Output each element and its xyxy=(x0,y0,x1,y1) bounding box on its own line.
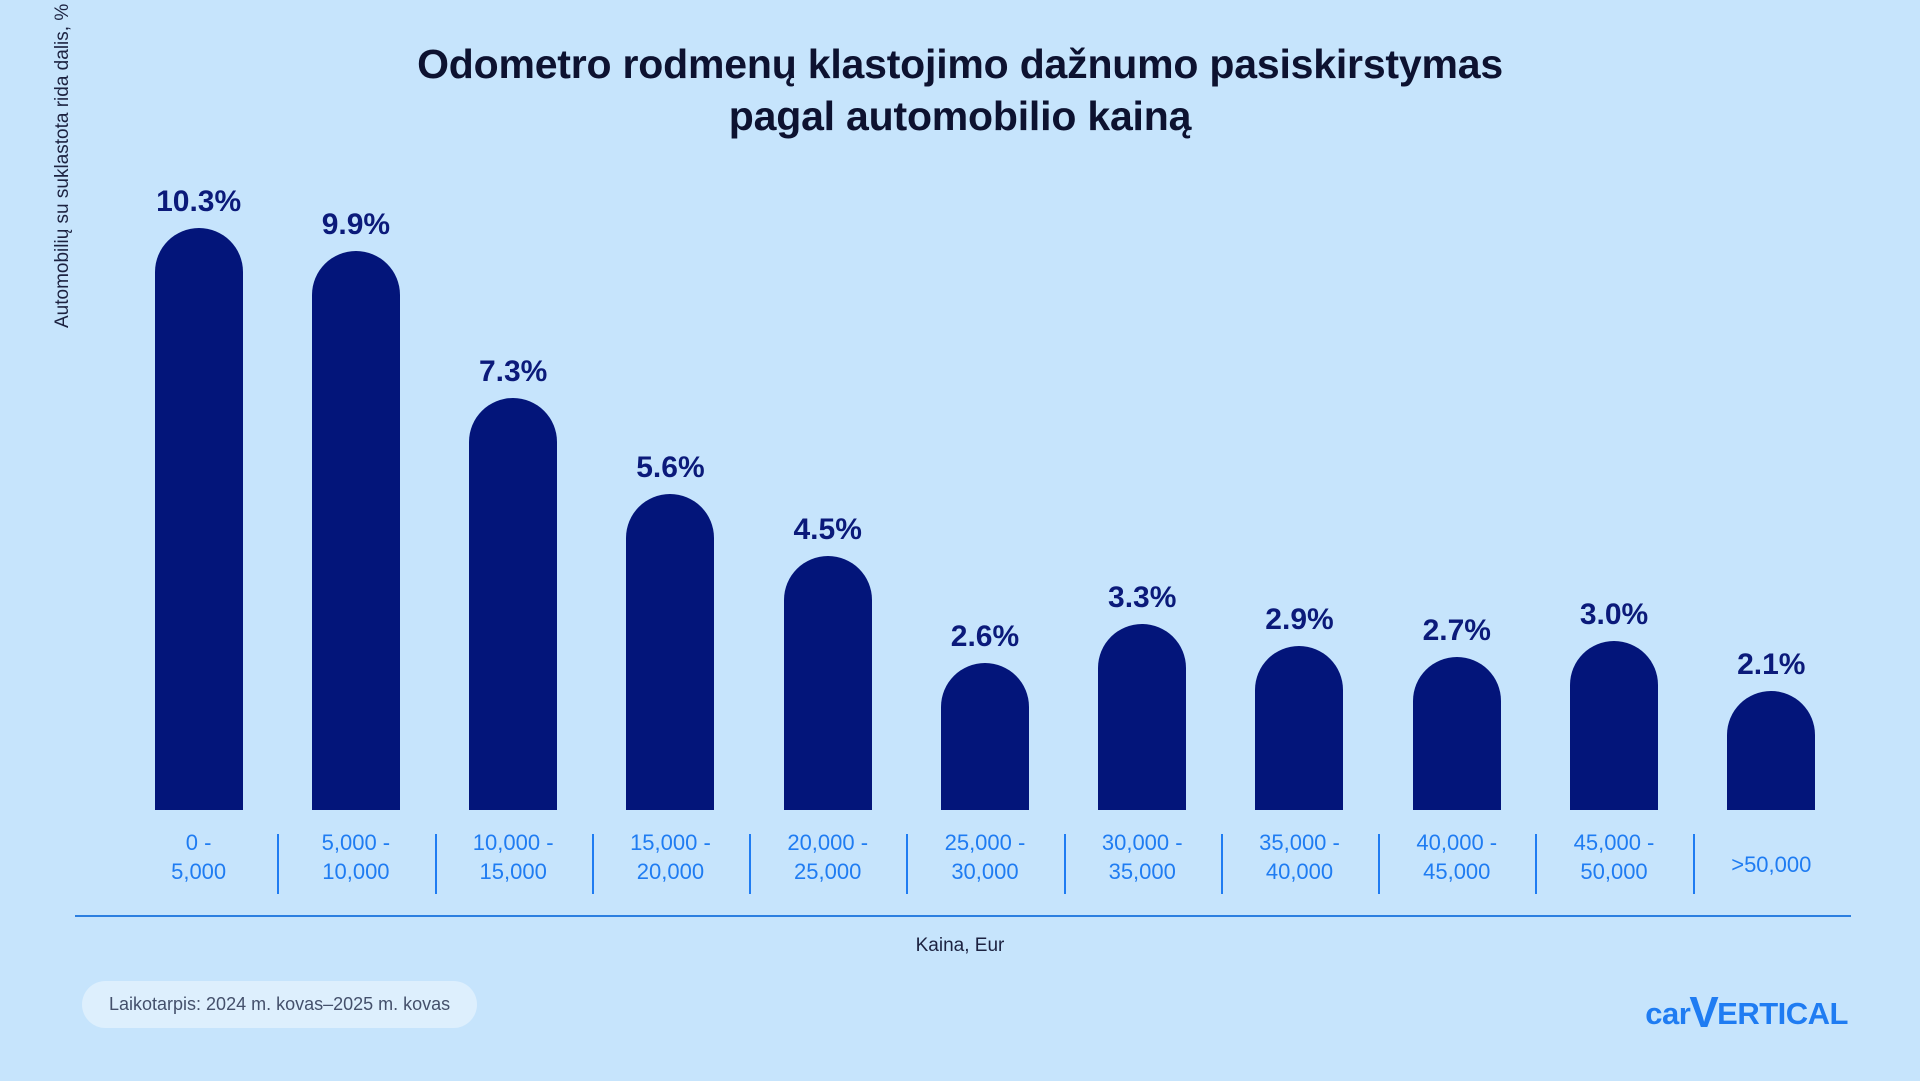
category-label-line: 10,000 xyxy=(322,857,389,886)
category-separator-line xyxy=(1064,834,1066,894)
x-axis-category-label: 10,000 -15,000 xyxy=(435,828,592,906)
category-label-line: 50,000 xyxy=(1580,857,1647,886)
category-separator-line xyxy=(1535,834,1537,894)
x-axis-category-label: 30,000 -35,000 xyxy=(1064,828,1221,906)
logo-text-car: car xyxy=(1645,996,1690,1032)
bar[interactable] xyxy=(626,494,714,810)
bar-slot: 9.9% xyxy=(277,180,434,810)
bar[interactable] xyxy=(1570,641,1658,811)
period-badge: Laikotarpis: 2024 m. kovas–2025 m. kovas xyxy=(82,981,477,1028)
bar-value-label: 2.6% xyxy=(951,620,1019,654)
category-separator-line xyxy=(277,834,279,894)
category-label-line: 35,000 xyxy=(1109,857,1176,886)
x-axis-category-label: 25,000 -30,000 xyxy=(906,828,1063,906)
category-label-line: 15,000 - xyxy=(630,828,711,857)
bar[interactable] xyxy=(1727,691,1815,810)
category-label-line: >50,000 xyxy=(1731,850,1811,879)
category-label-line: 5,000 - xyxy=(322,828,391,857)
category-label-line: 10,000 - xyxy=(473,828,554,857)
x-axis-category-label: 5,000 -10,000 xyxy=(277,828,434,906)
category-label-line: 45,000 xyxy=(1423,857,1490,886)
x-axis-category-label: >50,000 xyxy=(1693,828,1850,906)
bar-value-label: 5.6% xyxy=(636,451,704,485)
category-label-line: 0 - xyxy=(186,828,212,857)
x-axis-category-label: 15,000 -20,000 xyxy=(592,828,749,906)
logo-text-ertical: ERTICAL xyxy=(1717,996,1848,1032)
x-axis-category-label: 35,000 -40,000 xyxy=(1221,828,1378,906)
category-label-line: 30,000 - xyxy=(1102,828,1183,857)
category-label-line: 40,000 xyxy=(1266,857,1333,886)
x-axis-title: Kaina, Eur xyxy=(0,935,1920,957)
bar[interactable] xyxy=(1413,657,1501,810)
category-label-line: 20,000 - xyxy=(787,828,868,857)
x-axis-category-strip: 0 -5,0005,000 -10,00010,000 -15,00015,00… xyxy=(120,828,1850,906)
category-label-line: 40,000 - xyxy=(1416,828,1497,857)
category-label-line: 20,000 xyxy=(637,857,704,886)
bar-value-label: 10.3% xyxy=(156,185,241,219)
category-separator-line xyxy=(749,834,751,894)
category-label-line: 45,000 - xyxy=(1574,828,1655,857)
category-separator-line xyxy=(1221,834,1223,894)
bar-slot: 10.3% xyxy=(120,180,277,810)
bar-slot: 3.3% xyxy=(1064,180,1221,810)
category-label-line: 30,000 xyxy=(951,857,1018,886)
bar-slot: 5.6% xyxy=(592,180,749,810)
bar[interactable] xyxy=(1255,646,1343,810)
bar-slot: 2.7% xyxy=(1378,180,1535,810)
x-axis-category-label: 0 -5,000 xyxy=(120,828,277,906)
bar-value-label: 9.9% xyxy=(322,208,390,242)
category-separator-line xyxy=(1693,834,1695,894)
bar-value-label: 3.3% xyxy=(1108,581,1176,615)
bar[interactable] xyxy=(784,556,872,810)
bar[interactable] xyxy=(1098,624,1186,810)
bar-value-label: 4.5% xyxy=(794,513,862,547)
bar-slot: 2.9% xyxy=(1221,180,1378,810)
bar-slot: 2.1% xyxy=(1693,180,1850,810)
bar[interactable] xyxy=(469,398,557,810)
bar[interactable] xyxy=(941,663,1029,810)
bar-value-label: 2.7% xyxy=(1423,614,1491,648)
bar-slot: 7.3% xyxy=(435,180,592,810)
bar-value-label: 2.1% xyxy=(1737,648,1805,682)
x-axis-category-label: 20,000 -25,000 xyxy=(749,828,906,906)
bar[interactable] xyxy=(155,228,243,810)
x-axis-category-label: 40,000 -45,000 xyxy=(1378,828,1535,906)
x-axis-line xyxy=(75,915,1851,917)
page-title: Odometro rodmenų klastojimo dažnumo pasi… xyxy=(0,38,1920,143)
category-label-line: 5,000 xyxy=(171,857,226,886)
category-label-line: 25,000 - xyxy=(945,828,1026,857)
carvertical-logo: carVERTICAL xyxy=(1645,996,1848,1032)
bar-value-label: 7.3% xyxy=(479,355,547,389)
category-label-line: 35,000 - xyxy=(1259,828,1340,857)
bar-slot: 2.6% xyxy=(906,180,1063,810)
bar-slot: 4.5% xyxy=(749,180,906,810)
chart-canvas: Odometro rodmenų klastojimo dažnumo pasi… xyxy=(0,0,1920,1081)
category-separator-line xyxy=(435,834,437,894)
x-axis-category-label: 45,000 -50,000 xyxy=(1535,828,1692,906)
bar-value-label: 2.9% xyxy=(1265,603,1333,637)
y-axis-title: Automobilių su suklastota rida dalis, % xyxy=(52,0,74,328)
category-separator-line xyxy=(592,834,594,894)
bar[interactable] xyxy=(312,251,400,810)
title-line-1: Odometro rodmenų klastojimo dažnumo pasi… xyxy=(0,38,1920,90)
bar-slot: 3.0% xyxy=(1535,180,1692,810)
category-separator-line xyxy=(906,834,908,894)
title-line-2: pagal automobilio kainą xyxy=(0,90,1920,142)
bar-value-label: 3.0% xyxy=(1580,598,1648,632)
category-label-line: 15,000 xyxy=(480,857,547,886)
category-label-line: 25,000 xyxy=(794,857,861,886)
plot-area: 10.3%9.9%7.3%5.6%4.5%2.6%3.3%2.9%2.7%3.0… xyxy=(120,180,1850,810)
category-separator-line xyxy=(1378,834,1380,894)
